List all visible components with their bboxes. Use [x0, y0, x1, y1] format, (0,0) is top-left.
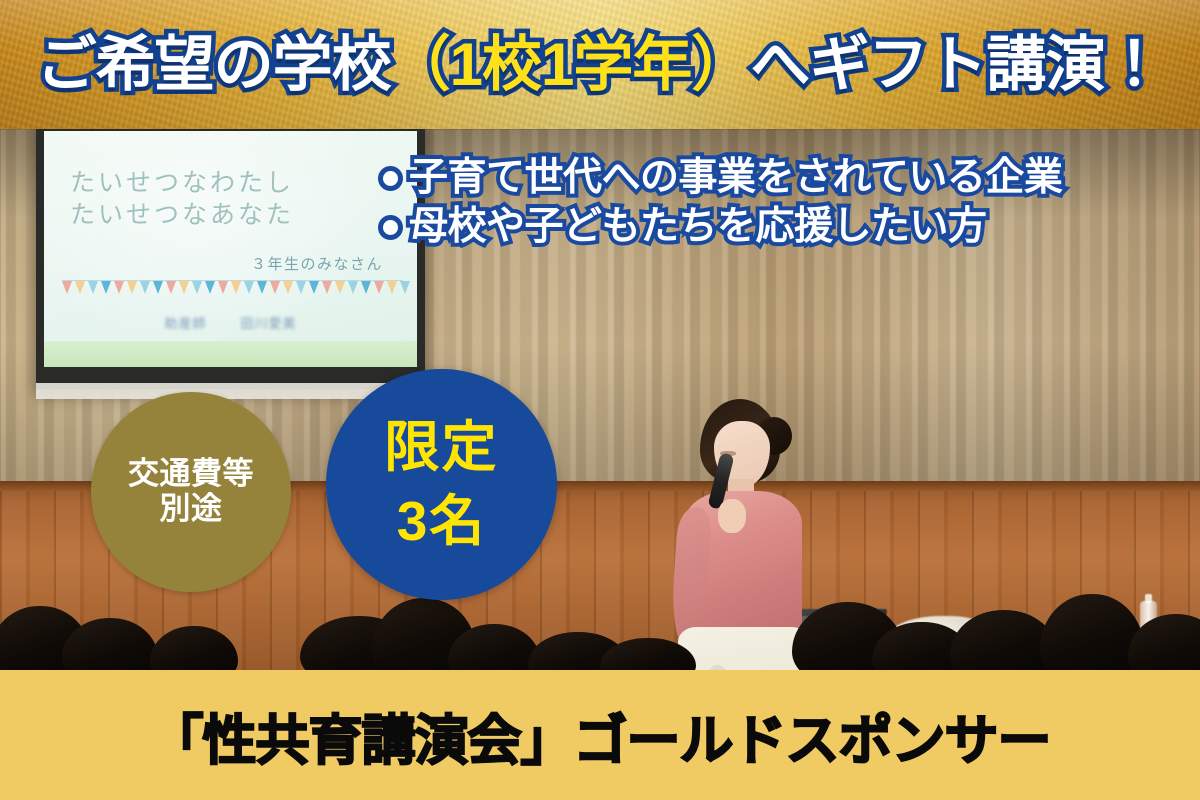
badge-transport-fee: 交通費等 別途: [91, 392, 291, 592]
bullet-item: 母校や子どもたちを応援したい方: [378, 204, 1062, 251]
slide-subtitle: ３年生のみなさん: [251, 253, 383, 274]
badge-blue-line1: 限定: [384, 417, 498, 479]
slide-credit-role: 助産師: [164, 313, 206, 332]
headline-part2: へギフト講演！: [750, 35, 1163, 95]
poster-root: ご希望の学校（1校1学年）へギフト講演！ たいせつなわたし たいせつなあなた ３…: [0, 0, 1200, 800]
sponsor-title: 「性共育講演会」ゴールドスポンサー: [150, 696, 1051, 775]
bullet-text: 子育て世代への事業をされている企業: [409, 155, 1062, 202]
headline: ご希望の学校（1校1学年）へギフト講演！: [37, 35, 1164, 95]
projector-screen-frame: たいせつなわたし たいせつなあなた ３年生のみなさん: [36, 129, 425, 389]
bullet-dot-icon: [378, 215, 403, 240]
headline-highlight: （1校1学年）: [391, 35, 751, 95]
bullet-text: 母校や子どもたちを応援したい方: [409, 204, 987, 251]
slide-title-line2: たいせつなあなた: [70, 199, 399, 231]
slide-title-line1: たいせつなわたし: [70, 167, 399, 199]
bullet-list: 子育て世代への事業をされている企業 母校や子どもたちを応援したい方: [378, 155, 1062, 251]
bullet-dot-icon: [378, 166, 403, 191]
top-gold-banner: ご希望の学校（1校1学年）へギフト講演！: [0, 0, 1200, 129]
bullet-item: 子育て世代への事業をされている企業: [378, 155, 1062, 202]
badge-olive-line1: 交通費等: [128, 457, 254, 492]
badge-limited-slots: 限定 3名: [326, 369, 557, 600]
projector-screen: たいせつなわたし たいせつなあなた ３年生のみなさん: [44, 131, 417, 367]
slide-credits: 助産師 田川愛美: [44, 313, 417, 332]
slide-footer-bar: [44, 341, 417, 367]
slide-credit-name: 田川愛美: [241, 313, 297, 332]
headline-part1: ご希望の学校: [37, 35, 391, 95]
speaker-hand: [718, 499, 746, 533]
bottom-gold-banner: 「性共育講演会」ゴールドスポンサー: [0, 670, 1200, 800]
bunting-garland: [62, 281, 403, 296]
slide-title: たいせつなわたし たいせつなあなた: [70, 167, 399, 231]
badge-blue-line2: 3名: [397, 491, 487, 553]
badge-olive-line2: 別途: [160, 492, 223, 527]
